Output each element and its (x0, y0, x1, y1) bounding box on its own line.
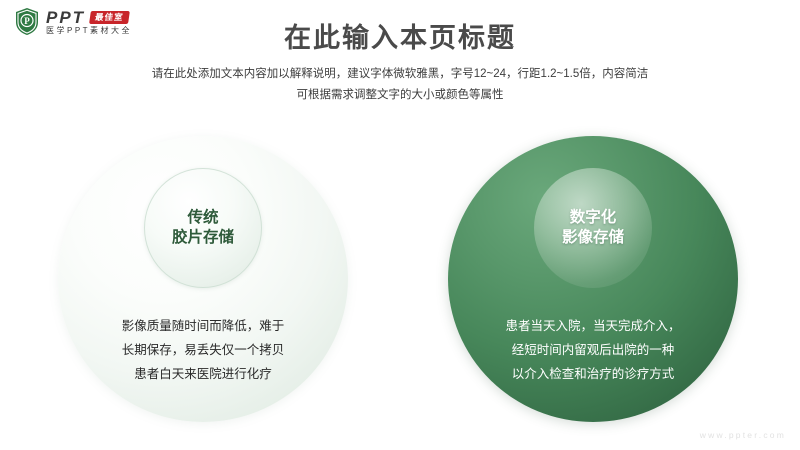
page-subtitle-line-2: 可根据需求调整文字的大小或颜色等属性 (0, 85, 800, 106)
footer-watermark: www.ppter.com (700, 430, 786, 440)
panel-body-line-2: 经短时间内留观后出院的一种 (505, 338, 680, 362)
panel-body-line-3: 患者白天来医院进行化疗 (122, 362, 285, 386)
page-title: 在此输入本页标题 (0, 16, 800, 55)
panel-badge-line-1: 数字化 (570, 208, 617, 228)
panel-traditional-film-storage[interactable]: 传统 胶片存储 影像质量随时间而降低，难于 长期保存，易丢失仅一个拷贝 患者白天… (58, 136, 348, 422)
page-subtitle: 请在此处添加文本内容加以解释说明，建议字体微软雅黑，字号12~24，行距1.2~… (0, 64, 800, 107)
panel-digital-image-storage[interactable]: 数字化 影像存储 患者当天入院，当天完成介入， 经短时间内留观后出院的一种 以介… (448, 136, 738, 422)
page-subtitle-line-1: 请在此处添加文本内容加以解释说明，建议字体微软雅黑，字号12~24，行距1.2~… (0, 64, 800, 85)
panel-body-line-3: 以介入检查和治疗的诊疗方式 (505, 362, 680, 386)
panel-body-line-2: 长期保存，易丢失仅一个拷贝 (122, 338, 285, 362)
panel-body-line-1: 患者当天入院，当天完成介入， (505, 314, 680, 338)
panel-badge-line-2: 影像存储 (562, 228, 624, 248)
panel-badge-line-1: 传统 (187, 208, 218, 228)
panels-stage: 传统 胶片存储 影像质量随时间而降低，难于 长期保存，易丢失仅一个拷贝 患者白天… (0, 130, 800, 430)
panel-badge-traditional: 传统 胶片存储 (144, 168, 262, 288)
panel-body-traditional: 影像质量随时间而降低，难于 长期保存，易丢失仅一个拷贝 患者白天来医院进行化疗 (122, 314, 285, 386)
panel-badge-line-2: 胶片存储 (172, 228, 234, 248)
panel-body-line-1: 影像质量随时间而降低，难于 (122, 314, 285, 338)
panel-body-digital: 患者当天入院，当天完成介入， 经短时间内留观后出院的一种 以介入检查和治疗的诊疗… (505, 314, 680, 386)
panel-badge-digital: 数字化 影像存储 (534, 168, 652, 288)
